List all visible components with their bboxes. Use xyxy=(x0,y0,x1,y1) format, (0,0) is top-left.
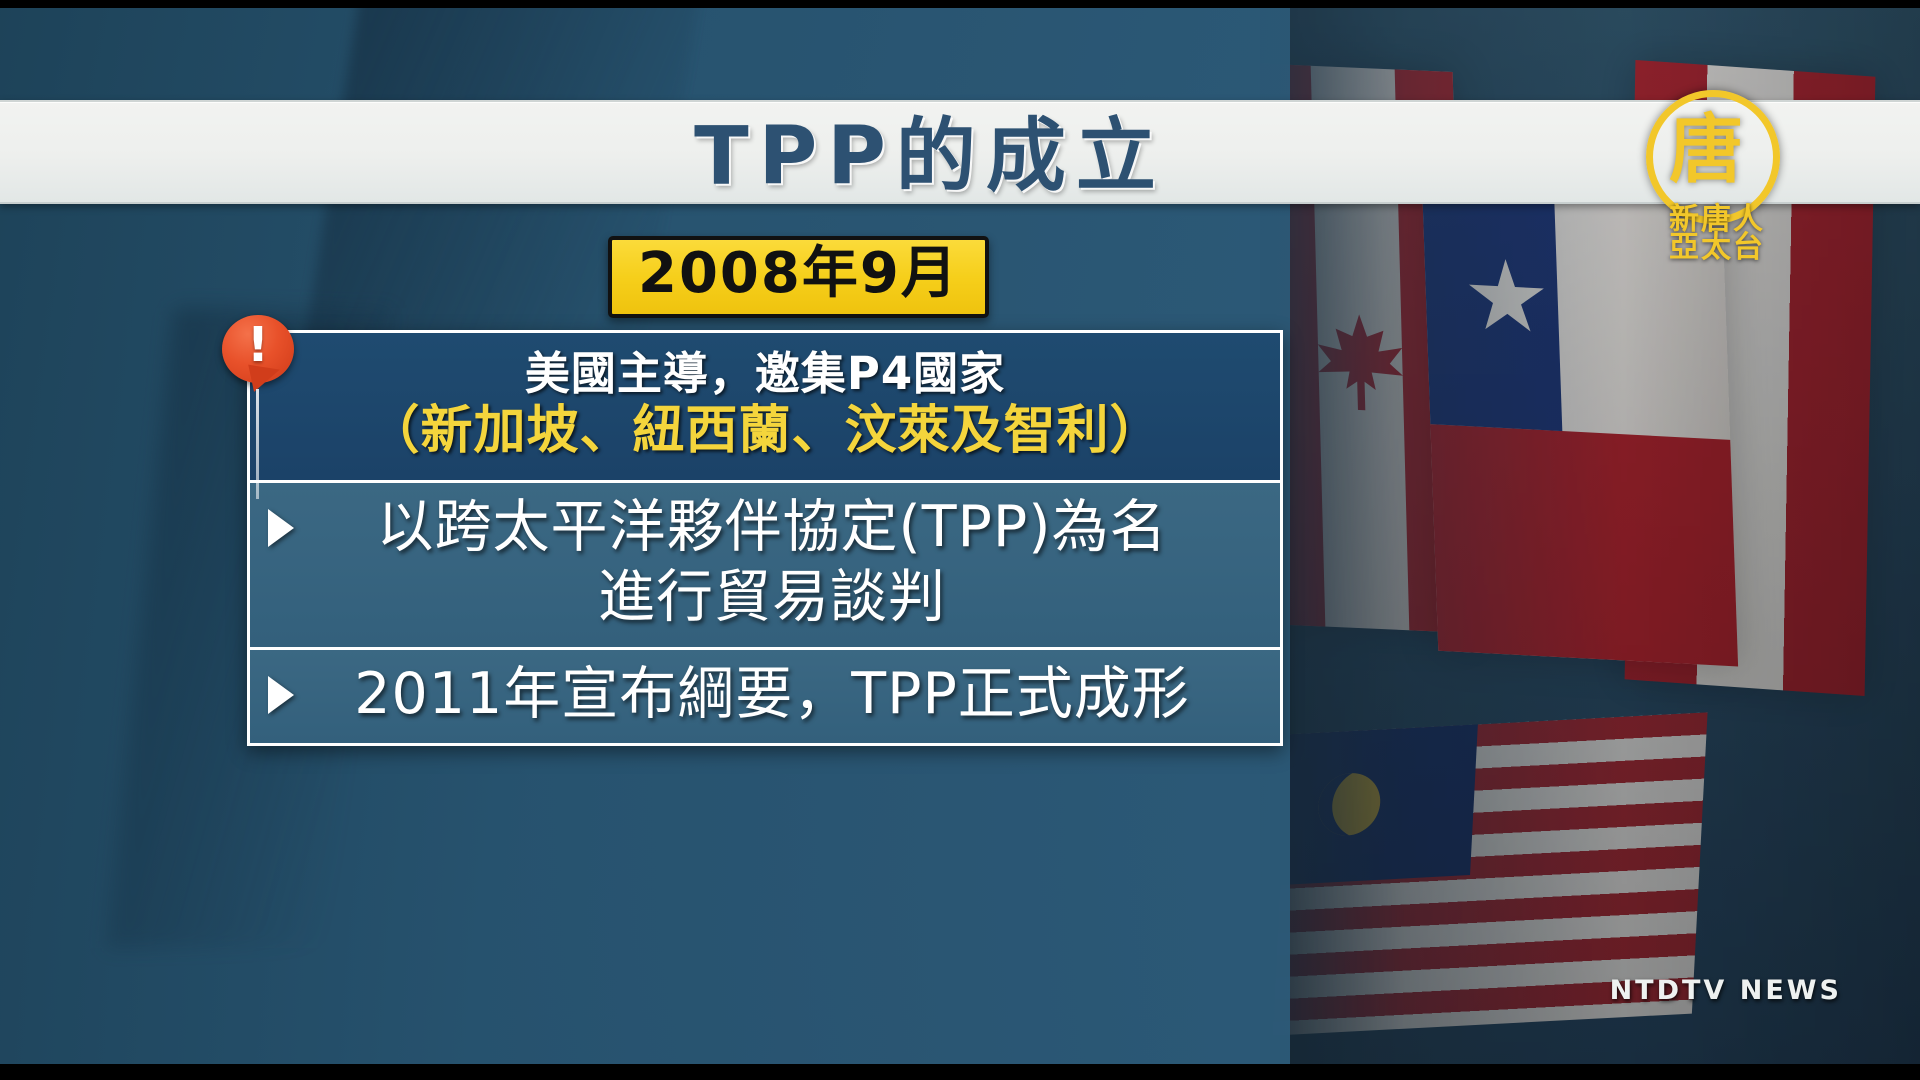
bullet-1-line-2: 進行貿易談判 xyxy=(308,563,1236,633)
bullet-row: 2011年宣布綱要，TPP正式成形 xyxy=(268,660,1262,730)
video-frame: TPP的成立 唐 新唐人 亞太台 2008年9月 ! 美國主導，邀集P4國家 （… xyxy=(0,8,1920,1064)
network-watermark: NTDTV NEWS xyxy=(1610,975,1842,1006)
info-card: 美國主導，邀集P4國家 （新加坡、紐西蘭、汶萊及智利） 以跨太平洋夥伴協定(TP… xyxy=(247,330,1283,746)
ntd-logo: 唐 新唐人 亞太台 xyxy=(1632,90,1802,255)
date-badge-label: 2008年9月 xyxy=(638,244,959,304)
alert-stem-line xyxy=(256,389,259,499)
bullet-2-line-1: 2011年宣布綱要，TPP正式成形 xyxy=(308,660,1236,730)
alert-badge: ! xyxy=(222,315,294,387)
header-line-yellow: （新加坡、紐西蘭、汶萊及智利） xyxy=(268,400,1262,462)
triangle-right-icon xyxy=(268,509,294,547)
broadcast-screen: TPP的成立 唐 新唐人 亞太台 2008年9月 ! 美國主導，邀集P4國家 （… xyxy=(0,0,1920,1080)
letterbox-bar-top xyxy=(0,0,1920,8)
triangle-right-icon xyxy=(268,676,294,714)
letterbox-bar-bottom xyxy=(0,1064,1920,1080)
date-badge: 2008年9月 xyxy=(608,236,989,318)
bullet-1-line-1: 以跨太平洋夥伴協定(TPP)為名 xyxy=(308,493,1236,563)
bullet-text-block: 2011年宣布綱要，TPP正式成形 xyxy=(308,660,1262,730)
info-card-header: 美國主導，邀集P4國家 （新加坡、紐西蘭、汶萊及智利） xyxy=(250,333,1280,480)
info-card-bullet-1: 以跨太平洋夥伴協定(TPP)為名 進行貿易談判 xyxy=(250,480,1280,646)
exclamation-icon: ! xyxy=(222,321,294,369)
logo-tang-glyph: 唐 xyxy=(1646,90,1766,210)
bullet-row: 以跨太平洋夥伴協定(TPP)為名 進行貿易談判 xyxy=(268,493,1262,632)
header-line-white: 美國主導，邀集P4國家 xyxy=(268,347,1262,400)
info-card-bullet-2: 2011年宣布綱要，TPP正式成形 xyxy=(250,647,1280,744)
bullet-text-block: 以跨太平洋夥伴協定(TPP)為名 進行貿易談判 xyxy=(308,493,1262,632)
logo-name-line2: 亞太台 xyxy=(1632,222,1802,266)
